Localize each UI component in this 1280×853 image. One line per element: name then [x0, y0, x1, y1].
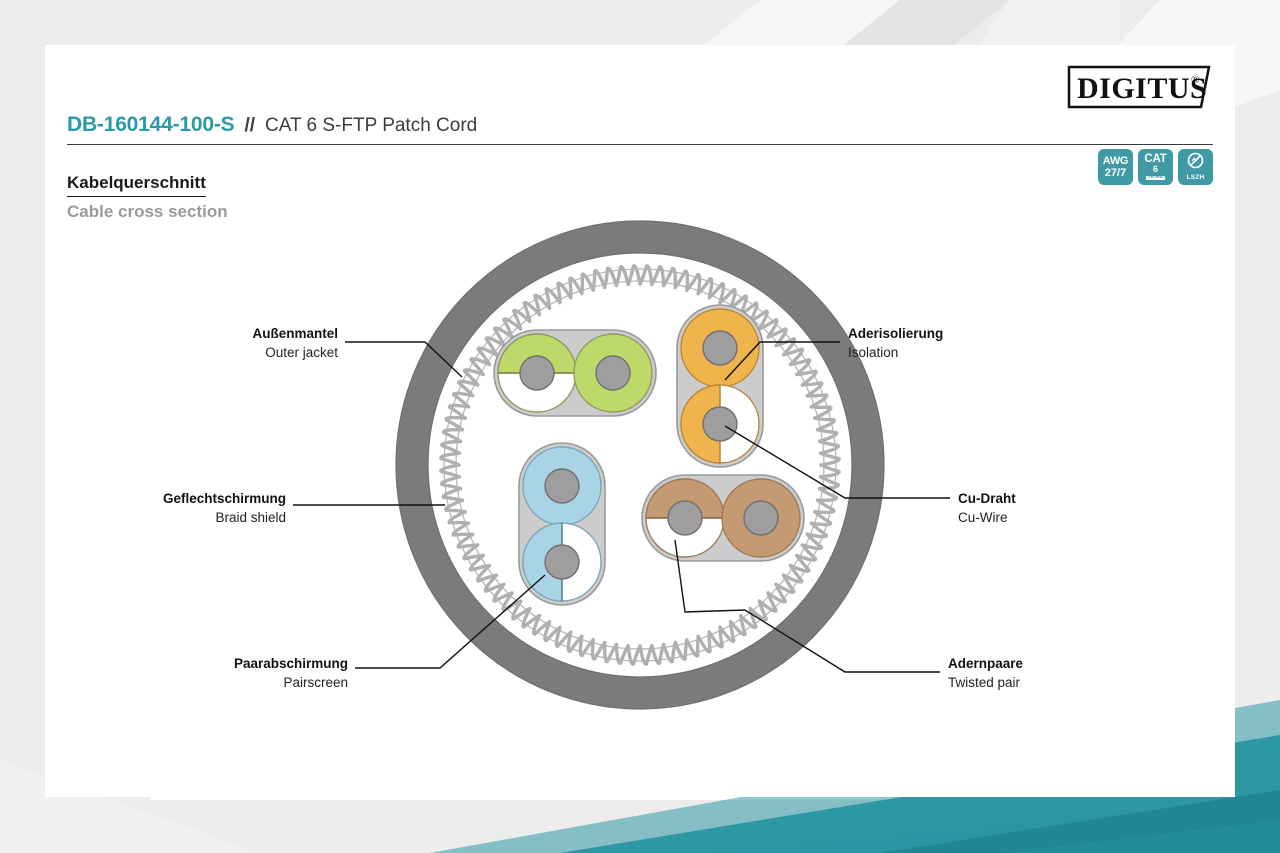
no-halogen-icon — [1187, 152, 1204, 173]
product-title-row: DB-160144-100-S // CAT 6 S-FTP Patch Cor… — [67, 113, 1213, 145]
label-twisted-pair-de: Adernpaare — [948, 656, 1024, 671]
svg-text:®: ® — [1191, 74, 1199, 86]
section-heading: Kabelquerschnitt Cable cross section — [67, 173, 228, 222]
label-pairscreen: Paarabschirmung Pairscreen — [234, 656, 348, 690]
brown-pair — [642, 475, 804, 561]
cat-badge: CAT 6 250 MHz — [1138, 149, 1173, 185]
product-title: CAT 6 S-FTP Patch Cord — [265, 115, 477, 137]
lszh-badge: LSZH — [1178, 149, 1213, 185]
label-isolation-en: Isolation — [848, 345, 898, 360]
label-outer-jacket-en: Outer jacket — [265, 345, 338, 360]
label-isolation-de: Aderisolierung — [848, 326, 943, 341]
awg-badge-line1: AWG — [1103, 156, 1128, 167]
label-cu-wire-en: Cu-Wire — [958, 510, 1008, 525]
green-pair — [494, 330, 656, 416]
content-sheet: DIGITUS ® DB-160144-100-S // CAT 6 S-FTP… — [45, 45, 1235, 797]
label-outer-jacket-de: Außenmantel — [252, 326, 338, 341]
outer-jacket-ring — [412, 237, 868, 693]
orange-pair — [677, 305, 763, 467]
svg-text:DIGITUS: DIGITUS — [1077, 72, 1207, 105]
label-outer-jacket: Außenmantel Outer jacket — [252, 326, 338, 360]
blue-pair — [519, 443, 605, 605]
title-separator: // — [244, 115, 255, 137]
section-heading-en: Cable cross section — [67, 202, 228, 222]
awg-badge: AWG 27/7 — [1098, 149, 1133, 185]
spec-badges: AWG 27/7 CAT 6 250 MHz LSZH — [1098, 149, 1213, 185]
product-sku: DB-160144-100-S — [67, 113, 234, 137]
section-heading-de: Kabelquerschnitt — [67, 173, 206, 197]
label-pairscreen-de: Paarabschirmung — [234, 656, 348, 671]
braid-shield-ring — [441, 266, 839, 664]
label-isolation: Aderisolierung Isolation — [848, 326, 943, 360]
awg-badge-line2: 27/7 — [1105, 168, 1126, 179]
label-braid-shield-de: Geflechtschirmung — [163, 491, 286, 506]
cable-cross-section-diagram: Außenmantel Outer jacket Geflechtschirmu… — [45, 220, 1235, 740]
label-braid-shield: Geflechtschirmung Braid shield — [163, 491, 286, 525]
label-cu-wire-de: Cu-Draht — [958, 491, 1016, 506]
label-cu-wire: Cu-Draht Cu-Wire — [958, 491, 1016, 525]
lszh-badge-label: LSZH — [1187, 175, 1205, 182]
cat-badge-line2: 6 — [1153, 165, 1158, 174]
label-pairscreen-en: Pairscreen — [283, 675, 348, 690]
label-braid-shield-en: Braid shield — [215, 510, 286, 525]
digitus-logo: DIGITUS ® — [1065, 63, 1213, 111]
label-twisted-pair-en: Twisted pair — [948, 675, 1021, 690]
label-twisted-pair: Adernpaare Twisted pair — [948, 656, 1024, 690]
cat-badge-line3: 250 MHz — [1146, 176, 1164, 180]
